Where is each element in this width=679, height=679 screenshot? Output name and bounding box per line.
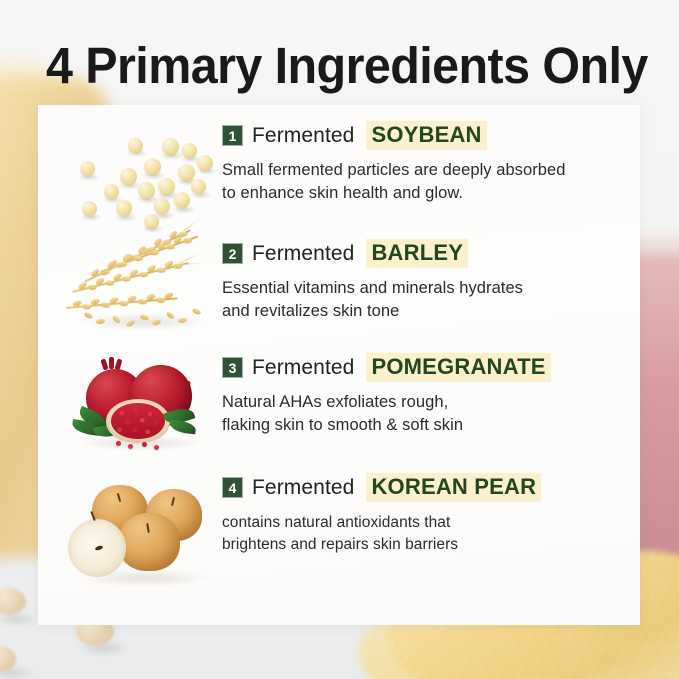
ingredient-row: 1 Fermented SOYBEAN Small fermented part…	[38, 121, 640, 237]
description-line: Natural AHAs exfoliates rough,	[222, 391, 634, 414]
ingredient-text: 2 Fermented BARLEY Essential vitamins an…	[222, 239, 634, 323]
pomegranate-illustration	[54, 353, 222, 469]
ingredient-description: Small fermented particles are deeply abs…	[222, 159, 634, 205]
ingredient-name: KOREAN PEAR	[366, 473, 541, 502]
description-line: to enhance skin health and glow.	[222, 182, 634, 205]
ingredient-name: SOYBEAN	[366, 121, 486, 150]
pomegranate-half	[106, 399, 170, 443]
page-title: 4 Primary Ingredients Only	[46, 36, 616, 96]
ingredient-number-badge: 2	[222, 243, 243, 264]
ingredient-heading: 1 Fermented SOYBEAN	[222, 121, 634, 150]
pear-whole	[118, 513, 180, 571]
ingredient-text: 4 Fermented KOREAN PEAR contains natural…	[222, 473, 634, 556]
ingredient-prefix: Fermented	[252, 124, 354, 148]
ingredient-description: Natural AHAs exfoliates rough, flaking s…	[222, 391, 634, 437]
ingredient-heading: 2 Fermented BARLEY	[222, 239, 634, 268]
ingredient-description: contains natural antioxidants that brigh…	[222, 512, 634, 556]
ingredient-prefix: Fermented	[252, 476, 354, 500]
ingredient-description: Essential vitamins and minerals hydrates…	[222, 277, 634, 323]
ingredient-prefix: Fermented	[252, 356, 354, 380]
ingredient-text: 1 Fermented SOYBEAN Small fermented part…	[222, 121, 634, 205]
description-line: and revitalizes skin tone	[222, 300, 634, 323]
ingredient-heading: 4 Fermented KOREAN PEAR	[222, 473, 634, 502]
barley-illustration	[54, 239, 222, 349]
ingredient-row: 4 Fermented KOREAN PEAR contains natural…	[38, 473, 640, 603]
description-line: flaking skin to smooth & soft skin	[222, 414, 634, 437]
ingredient-row: 3 Fermented POMEGRANATE Natural AHAs exf…	[38, 353, 640, 469]
ingredient-row: 2 Fermented BARLEY Essential vitamins an…	[38, 239, 640, 349]
pear-half	[68, 519, 126, 577]
ingredient-number-badge: 1	[222, 125, 243, 146]
description-line: Essential vitamins and minerals hydrates	[222, 277, 634, 300]
ingredient-number-badge: 4	[222, 477, 243, 498]
pomegranate-leaf	[169, 420, 196, 435]
ingredient-number-badge: 3	[222, 357, 243, 378]
ingredient-prefix: Fermented	[252, 242, 354, 266]
description-line: brightens and repairs skin barriers	[222, 534, 634, 556]
ingredients-card: 1 Fermented SOYBEAN Small fermented part…	[38, 105, 640, 625]
ingredient-name: POMEGRANATE	[366, 353, 550, 382]
korean-pear-illustration	[54, 473, 222, 603]
ingredient-text: 3 Fermented POMEGRANATE Natural AHAs exf…	[222, 353, 634, 437]
ingredient-heading: 3 Fermented POMEGRANATE	[222, 353, 634, 382]
description-line: contains natural antioxidants that	[222, 512, 634, 534]
ingredient-name: BARLEY	[366, 239, 468, 268]
description-line: Small fermented particles are deeply abs…	[222, 159, 634, 182]
